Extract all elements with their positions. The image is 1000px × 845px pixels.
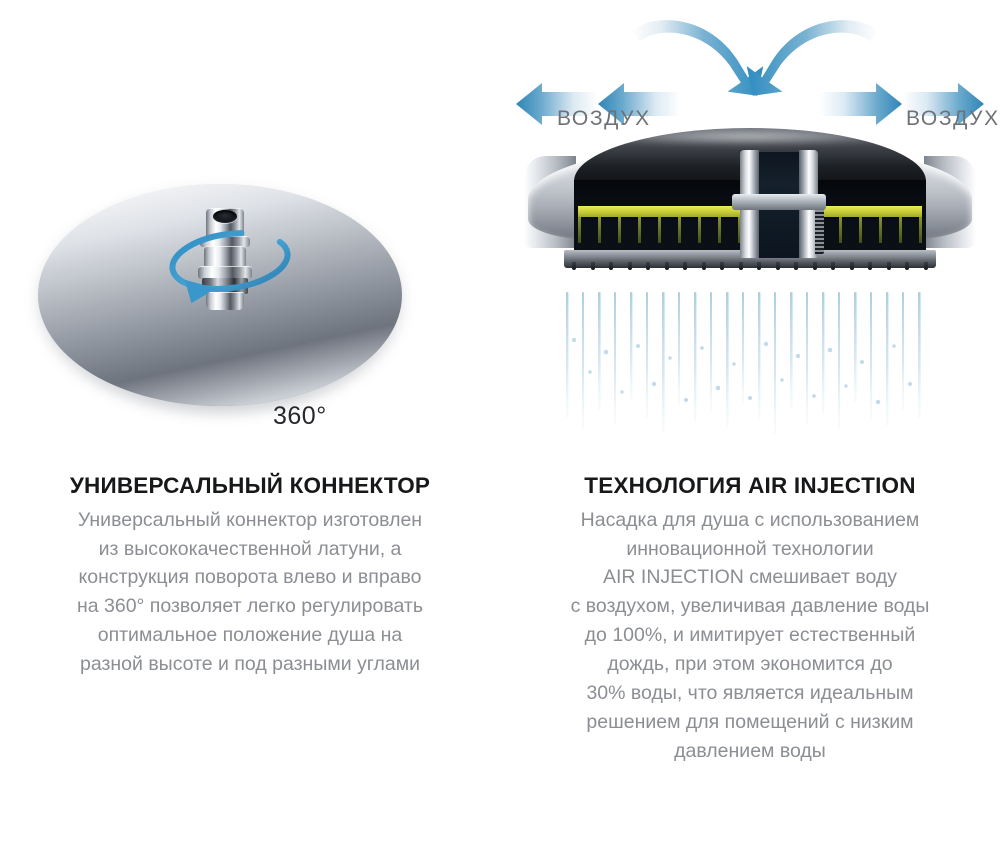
body-line: с воздухом, увеличивая давление воды	[518, 592, 982, 621]
body-line: дождь, при этом экономится до	[518, 650, 982, 679]
body-line: решением для помещений с низким	[518, 708, 982, 737]
nozzle	[739, 262, 743, 270]
air-injection-text-block: ТЕХНОЛОГИЯ AIR INJECTION Насадка для душ…	[500, 474, 1000, 765]
nozzle	[924, 262, 928, 270]
air-injection-body: Насадка для душа с использованием иннова…	[518, 506, 982, 766]
nozzle	[868, 262, 872, 270]
nozzle	[850, 262, 854, 270]
rib	[839, 217, 842, 243]
rib	[718, 217, 721, 243]
rib	[578, 217, 581, 243]
nozzle	[591, 262, 595, 270]
body-line: давлением воды	[518, 737, 982, 766]
nozzle	[646, 262, 650, 270]
rib	[618, 217, 621, 243]
rib	[899, 217, 902, 243]
inward-air-arrow-left	[632, 20, 764, 96]
body-line: разной высоте и под разными углами	[18, 650, 482, 679]
rotation-arrow-icon	[150, 216, 310, 326]
body-line: инновационной технологии	[518, 535, 982, 564]
inward-air-arrow-right	[747, 20, 879, 96]
rib	[859, 217, 862, 243]
rib	[598, 217, 601, 243]
rib	[638, 217, 641, 243]
rib	[698, 217, 701, 243]
water-inlet-tube	[732, 150, 826, 260]
nozzle	[794, 262, 798, 270]
nozzle	[776, 262, 780, 270]
rotation-label: 360°	[273, 402, 327, 431]
nozzle	[813, 262, 817, 270]
nozzle	[905, 262, 909, 270]
outward-air-arrow-right-inner	[820, 83, 902, 125]
body-line: Насадка для душа с использованием	[518, 506, 982, 535]
body-line: AIR INJECTION смешивает воду	[518, 563, 982, 592]
body-line: на 360° позволяет легко регулировать	[18, 592, 482, 621]
panel-air-injection: ВОЗДУХ ВОЗДУХ	[500, 0, 1000, 845]
body-line: конструкция поворота влево и вправо	[18, 563, 482, 592]
nozzle	[887, 262, 891, 270]
body-line: 30% воды, что является идеальным	[518, 679, 982, 708]
inlet-collar	[732, 194, 826, 210]
body-line: Универсальный коннектор изготовлен	[18, 506, 482, 535]
rib	[919, 217, 922, 243]
air-injection-heading: ТЕХНОЛОГИЯ AIR INJECTION	[518, 474, 982, 499]
nozzle	[572, 262, 576, 270]
connector-text-block: УНИВЕРСАЛЬНЫЙ КОННЕКТОР Универсальный ко…	[0, 474, 500, 679]
shower-head-figure: 360°	[0, 0, 500, 470]
shower-head-cutaway	[528, 122, 972, 342]
nozzle	[609, 262, 613, 270]
rib	[678, 217, 681, 243]
nozzle	[683, 262, 687, 270]
nozzle	[628, 262, 632, 270]
nozzle	[702, 262, 706, 270]
head-dome-highlight	[598, 130, 898, 146]
body-line: до 100%, и имитирует естественный	[518, 621, 982, 650]
connector-body: Универсальный коннектор изготовлен из вы…	[18, 506, 482, 679]
nozzle	[757, 262, 761, 270]
body-line: из высококачественной латуни, а	[18, 535, 482, 564]
rib	[879, 217, 882, 243]
rib	[658, 217, 661, 243]
nozzle	[720, 262, 724, 270]
air-injection-figure: ВОЗДУХ ВОЗДУХ	[500, 0, 1000, 470]
body-line: оптимальное положение душа на	[18, 621, 482, 650]
connector-heading: УНИВЕРСАЛЬНЫЙ КОННЕКТОР	[18, 474, 482, 499]
panel-universal-connector: 360° УНИВЕРСАЛЬНЫЙ КОННЕКТОР Универсальн…	[0, 0, 500, 845]
nozzle	[665, 262, 669, 270]
round-shower-head-image: 360°	[30, 178, 410, 418]
infographic-page: 360° УНИВЕРСАЛЬНЫЙ КОННЕКТОР Универсальн…	[0, 0, 1000, 845]
nozzle	[831, 262, 835, 270]
nozzle-row	[572, 262, 928, 270]
